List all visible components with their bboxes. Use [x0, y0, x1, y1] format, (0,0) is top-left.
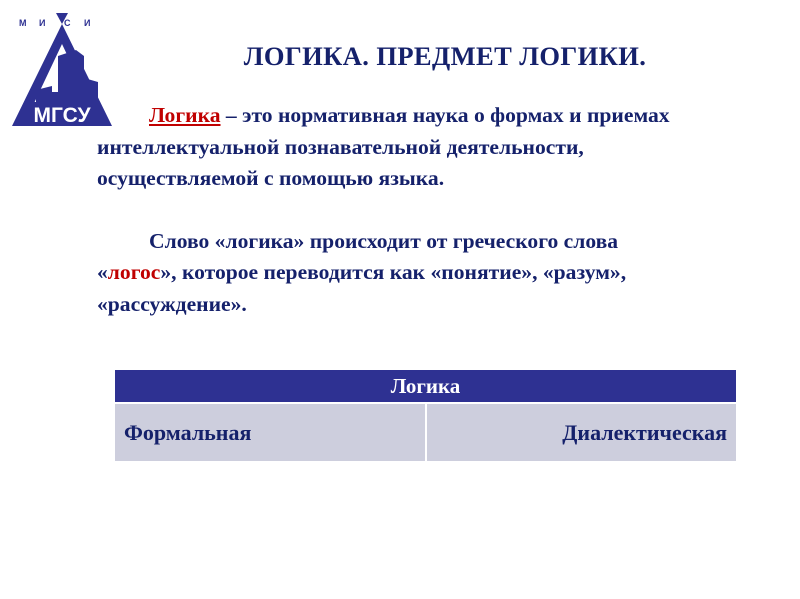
etymology-rest: », которое переводится как «понятие», «р…	[97, 260, 626, 316]
table-row: Формальная Диалектическая	[114, 403, 737, 462]
svg-text:М: М	[19, 18, 27, 28]
logic-classification-table: Логика Формальная Диалектическая	[114, 369, 737, 462]
table-cell-formalnaya: Формальная	[114, 403, 426, 462]
svg-text:И: И	[84, 18, 90, 28]
table-cell-dialekticheskaya: Диалектическая	[426, 403, 738, 462]
paragraph-etymology: Слово «логика» происходит от греческого …	[97, 226, 699, 321]
slide-canvas: М И С И МГСУ ЛОГИКА. ПРЕДМЕТ ЛОГИКИ.	[0, 0, 800, 599]
table-header-row: Логика	[114, 369, 737, 403]
highlighted-term-logika: Логика	[149, 103, 221, 127]
highlighted-term-logos: логос	[108, 260, 161, 284]
svg-text:МГСУ: МГСУ	[33, 104, 91, 127]
paragraph-definition: Логика – это нормативная наука о формах …	[97, 100, 699, 195]
slide-body: Логика – это нормативная наука о формах …	[97, 100, 699, 320]
svg-text:И: И	[39, 18, 45, 28]
page-title: ЛОГИКА. ПРЕДМЕТ ЛОГИКИ.	[130, 42, 760, 71]
svg-text:С: С	[64, 18, 71, 28]
table-header-cell-logika: Логика	[114, 369, 737, 403]
